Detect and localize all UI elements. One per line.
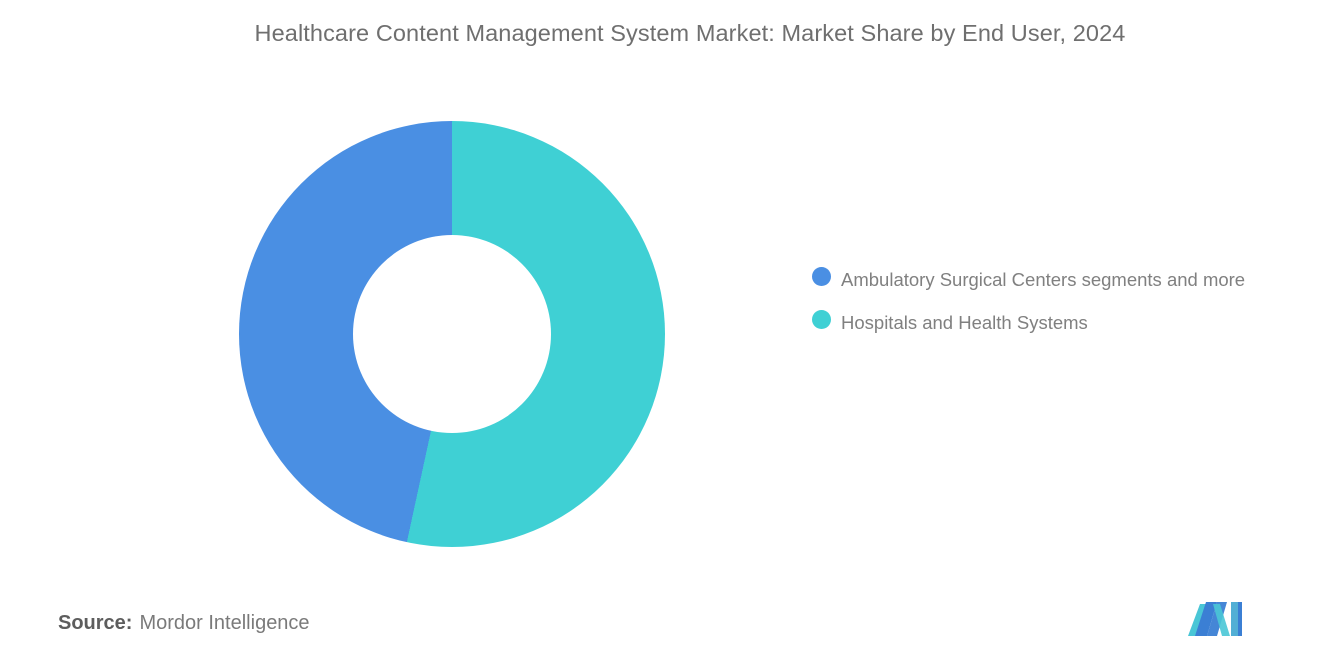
mordor-intelligence-logo-icon <box>1186 598 1252 640</box>
legend-item-hospitals-and-health-systems[interactable]: Hospitals and Health Systems <box>812 307 1292 338</box>
page-title: Healthcare Content Management System Mar… <box>160 14 1220 52</box>
chart-legend: Ambulatory Surgical Centers segments and… <box>812 264 1292 350</box>
source-label: Source: <box>58 612 132 634</box>
legend-swatch-icon-ambulatory-surgical-centers <box>812 267 831 286</box>
legend-swatch-icon-hospitals-and-health-systems <box>812 310 831 329</box>
source-attribution: Source:Mordor Intelligence <box>58 612 310 635</box>
legend-item-ambulatory-surgical-centers[interactable]: Ambulatory Surgical Centers segments and… <box>812 264 1292 295</box>
legend-label-ambulatory-surgical-centers: Ambulatory Surgical Centers segments and… <box>841 264 1245 295</box>
donut-center-hole <box>353 235 551 433</box>
donut-chart <box>239 121 665 547</box>
source-value: Mordor Intelligence <box>139 612 309 634</box>
legend-label-hospitals-and-health-systems: Hospitals and Health Systems <box>841 307 1088 338</box>
